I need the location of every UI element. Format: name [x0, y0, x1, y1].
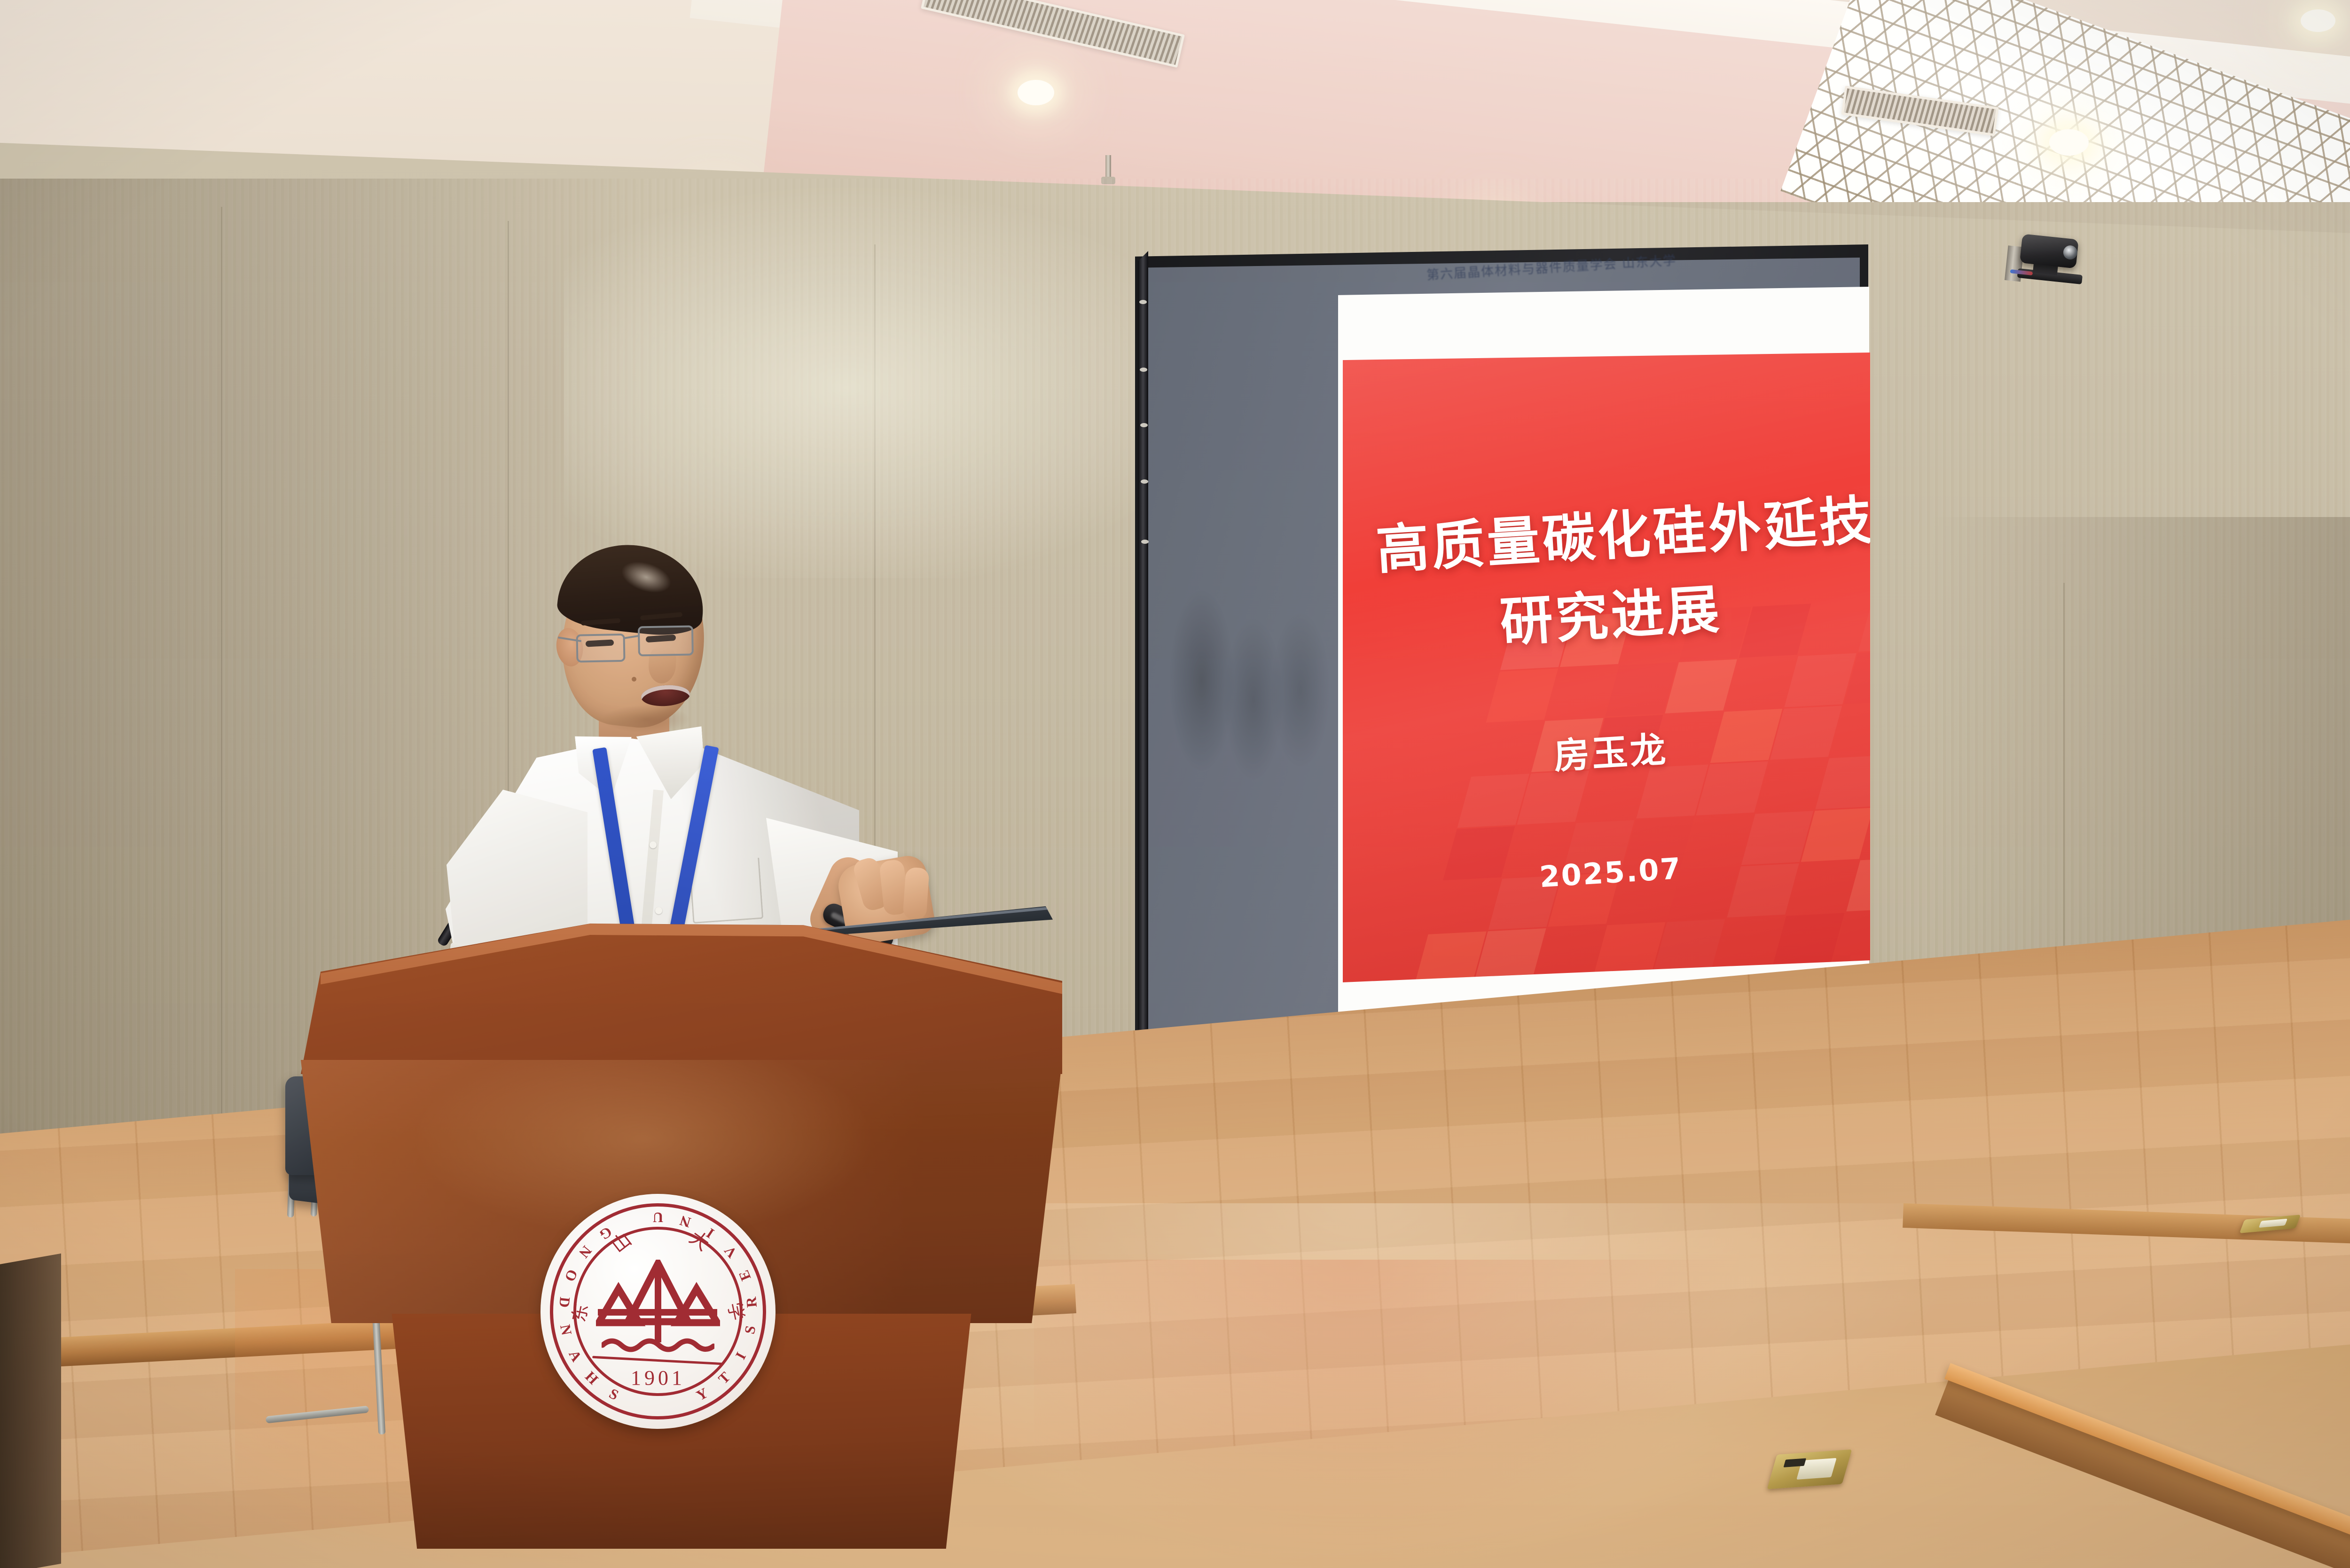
floor-outlet-icon — [1767, 1450, 1852, 1490]
logo-latin-char: U — [653, 1209, 663, 1226]
logo-latin-char: A — [565, 1347, 585, 1364]
screen-rail-highlight — [1141, 479, 1148, 484]
logo-latin-char: N — [678, 1212, 693, 1231]
podium: 1901 山 大 东 学 SHANDONG UNIVERSITY — [301, 919, 1062, 1568]
glasses-lens — [576, 634, 626, 663]
glasses-bridge — [624, 635, 640, 639]
chin-shadow — [602, 705, 691, 733]
logo-latin-char: G — [596, 1223, 615, 1243]
logo-latin-char: E — [735, 1268, 754, 1283]
logo-latin-char: D — [556, 1296, 573, 1309]
shirt-button — [650, 841, 657, 848]
cheek-mole — [632, 677, 636, 682]
glasses-lens — [638, 625, 694, 656]
downlight-icon — [1018, 80, 1054, 105]
podium-top — [301, 919, 1062, 1074]
screen-rail-highlight — [1139, 300, 1147, 304]
logo-latin-char: V — [721, 1242, 741, 1261]
logo-latin-char: H — [582, 1368, 602, 1388]
logo-latin-char: I — [732, 1349, 750, 1363]
logo-latin-char: N — [556, 1323, 575, 1337]
screen-rail-highlight — [1140, 423, 1148, 427]
floor-outlet-face — [2259, 1219, 2287, 1228]
shirt-button — [655, 907, 662, 914]
logo-latin-char: O — [561, 1267, 581, 1284]
university-logo: 1901 山 大 东 学 SHANDONG UNIVERSITY — [540, 1194, 775, 1429]
screen-rail-highlight — [1141, 540, 1149, 544]
shirt-pocket — [689, 858, 764, 924]
screen-left-rail — [1138, 251, 1148, 1105]
presentation-slide: 高质量碳化硅外延技术 研究进展 房玉龙 2025.07 — [1343, 353, 1870, 982]
screen-rail-highlight — [1140, 368, 1147, 372]
downlight-icon — [2301, 9, 2335, 32]
logo-latin-text: SHANDONG UNIVERSITY — [540, 1194, 775, 1429]
logo-latin-char: N — [575, 1242, 595, 1261]
photo-scene: 高质量碳化硅外延技术 研究进展 房玉龙 2025.07 第六届晶体材料与器件质量… — [0, 0, 2350, 1568]
left-wall-return — [0, 1254, 61, 1568]
floor-screen-reflection — [1034, 1260, 1739, 1568]
glasses-icon — [572, 621, 714, 672]
logo-latin-char: S — [741, 1324, 760, 1335]
logo-latin-char: S — [606, 1385, 621, 1404]
logo-latin-char: T — [715, 1369, 734, 1388]
downlight-icon — [2049, 129, 2089, 156]
logo-latin-char: R — [743, 1296, 760, 1309]
camera-icon — [2004, 228, 2089, 290]
logo-latin-char: Y — [694, 1384, 711, 1404]
floor-outlet-slot — [1783, 1458, 1806, 1467]
logo-latin-char: I — [703, 1224, 717, 1242]
